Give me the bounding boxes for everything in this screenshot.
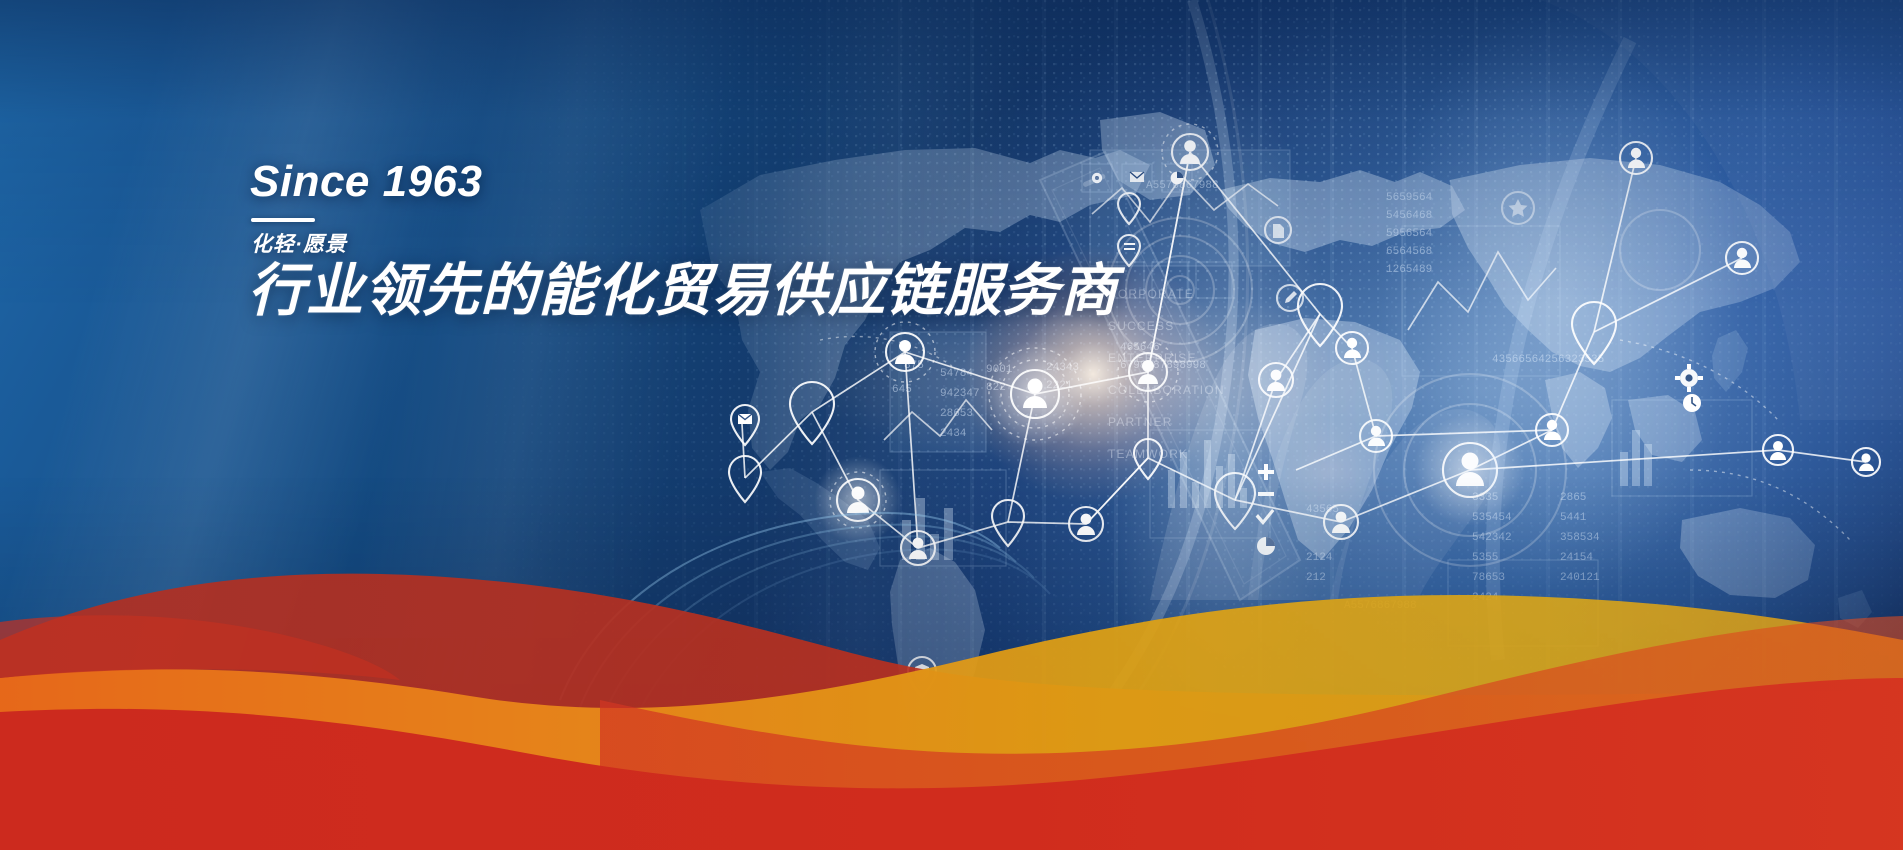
divider-rule — [251, 218, 315, 222]
hero-headline: 行业领先的能化贸易供应链服务商 — [248, 261, 1370, 323]
hero-banner: CORPORATE SUCCESS ENTERPRISE COLLABORATI… — [0, 0, 1903, 850]
hero-copy-block: Since 1963 化轻·愿景 行业领先的能化贸易供应链服务商 — [250, 160, 1370, 323]
hero-subtitle: 化轻·愿景 — [251, 234, 1370, 255]
since-label: Since 1963 — [250, 160, 1370, 204]
edge-vignette — [0, 0, 1903, 850]
